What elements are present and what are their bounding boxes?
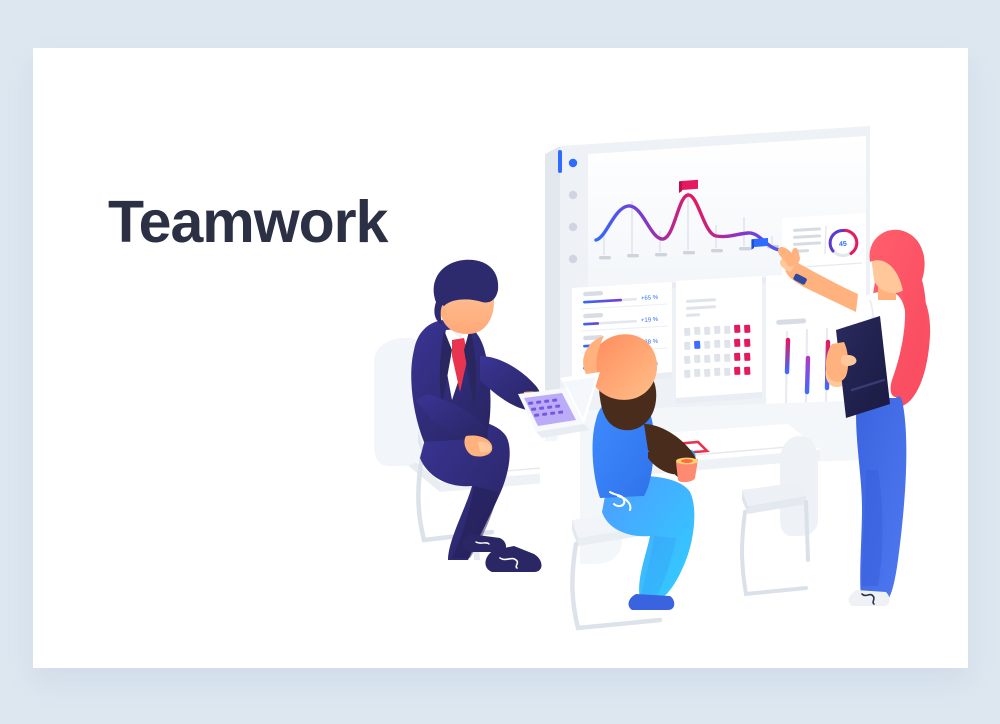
nav-dot-1[interactable] bbox=[569, 159, 577, 167]
gauge-value: 45 bbox=[839, 241, 847, 248]
range-bar-group[interactable] bbox=[806, 330, 808, 402]
sidebar-accent-bar bbox=[558, 150, 562, 173]
calendar-heatmap-panel[interactable] bbox=[676, 276, 762, 404]
nav-dot-3[interactable] bbox=[569, 223, 577, 231]
kpi-value: +19 % bbox=[641, 317, 659, 324]
kpi-value: +65 % bbox=[641, 295, 659, 302]
teamwork-illustration: 45 bbox=[0, 0, 1000, 724]
nav-dot-4[interactable] bbox=[569, 255, 577, 263]
illustration-stage: Teamwork bbox=[0, 0, 1000, 724]
nav-dot-2[interactable] bbox=[569, 191, 577, 199]
